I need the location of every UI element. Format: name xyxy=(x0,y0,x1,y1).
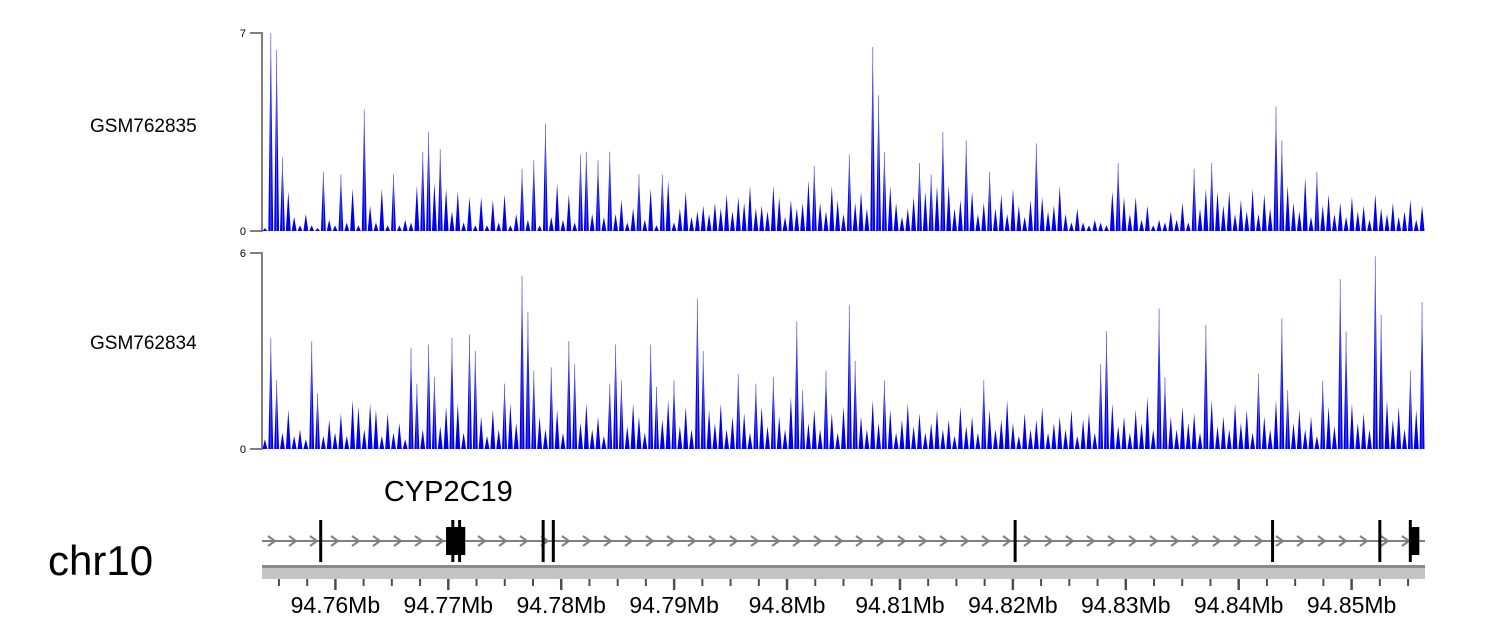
ruler-label-2: 94.78Mb xyxy=(516,592,606,618)
coverage-track-GSM762835[interactable]: GSM762835 70 xyxy=(0,20,1500,245)
y-tick-label-bottom-1: 0 xyxy=(240,444,246,456)
ruler-label-9: 94.85Mb xyxy=(1307,592,1397,618)
coverage-track-GSM762834[interactable]: GSM762834 60 xyxy=(0,243,1500,465)
exon-block-0 xyxy=(446,527,465,555)
ruler-label-5: 94.81Mb xyxy=(855,592,945,618)
coverage-area-0 xyxy=(262,33,1425,231)
ruler-label-8: 94.84Mb xyxy=(1194,592,1284,618)
track-axis-1 xyxy=(250,253,262,449)
exon-block-1 xyxy=(1410,527,1419,555)
y-tick-label-top-0: 7 xyxy=(240,28,246,40)
ruler-label-6: 94.82Mb xyxy=(968,592,1058,618)
gene-name-label: CYP2C19 xyxy=(384,476,513,508)
coverage-area-1 xyxy=(262,256,1425,449)
gene-model-plot[interactable]: CYP2C1994.76Mb94.77Mb94.78Mb94.79Mb94.8M… xyxy=(0,465,1500,640)
ruler-label-4: 94.8Mb xyxy=(749,592,826,618)
gene-annotation-panel[interactable]: chr10 CYP2C1994.76Mb94.77Mb94.78Mb94.79M… xyxy=(0,465,1500,640)
ruler-label-7: 94.83Mb xyxy=(1081,592,1171,618)
ruler-label-0: 94.76Mb xyxy=(291,592,381,618)
y-tick-label-bottom-0: 0 xyxy=(240,226,246,238)
track-axis-0 xyxy=(250,33,262,231)
track-plot-0[interactable]: 70 xyxy=(0,20,1500,245)
genome-browser-view: GSM762835 70 GSM762834 60 chr10 CYP2C199… xyxy=(0,0,1500,640)
scalebar-body xyxy=(262,568,1425,579)
ruler-label-1: 94.77Mb xyxy=(404,592,494,618)
track-plot-1[interactable]: 60 xyxy=(0,243,1500,465)
y-tick-label-top-1: 6 xyxy=(240,248,246,260)
ruler-label-3: 94.79Mb xyxy=(629,592,719,618)
